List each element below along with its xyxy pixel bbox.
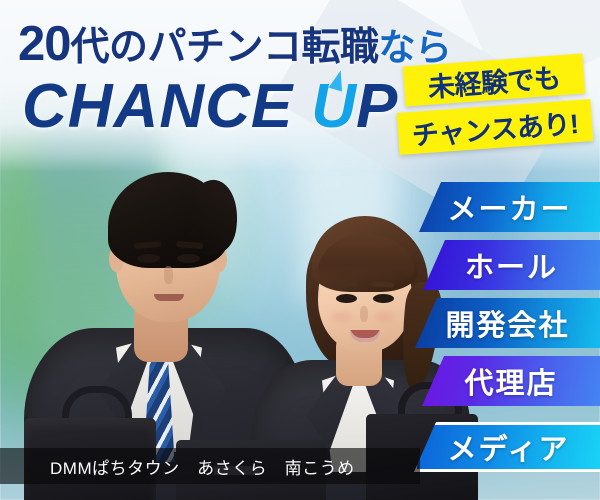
category-item-media[interactable]: メディア [414,422,600,472]
credits-text: DMMぱちタウン あさくら 南こうめ [50,454,355,479]
category-item-hall[interactable]: ホール [423,240,600,290]
category-label-media: メディア [448,426,570,468]
category-label-agency: 代理店 [464,360,557,402]
category-item-agency[interactable]: 代理店 [422,356,600,406]
category-item-developer[interactable]: 開発会社 [415,298,600,348]
category-label-maker: メーカー [447,186,571,228]
chance-up-banner[interactable]: 20代のパチンコ転職なら CHANCE U P 未経験でも チャンスあり! メー… [0,0,600,500]
category-item-maker[interactable]: メーカー [419,182,600,232]
category-label-developer: 開発会社 [445,302,569,344]
category-label-hall: ホール [465,244,558,286]
credits-bar: DMMぱちタウン あさくら 南こうめ [0,448,420,484]
category-list: メーカー ホール 開発会社 代理店 メディア [0,0,600,500]
